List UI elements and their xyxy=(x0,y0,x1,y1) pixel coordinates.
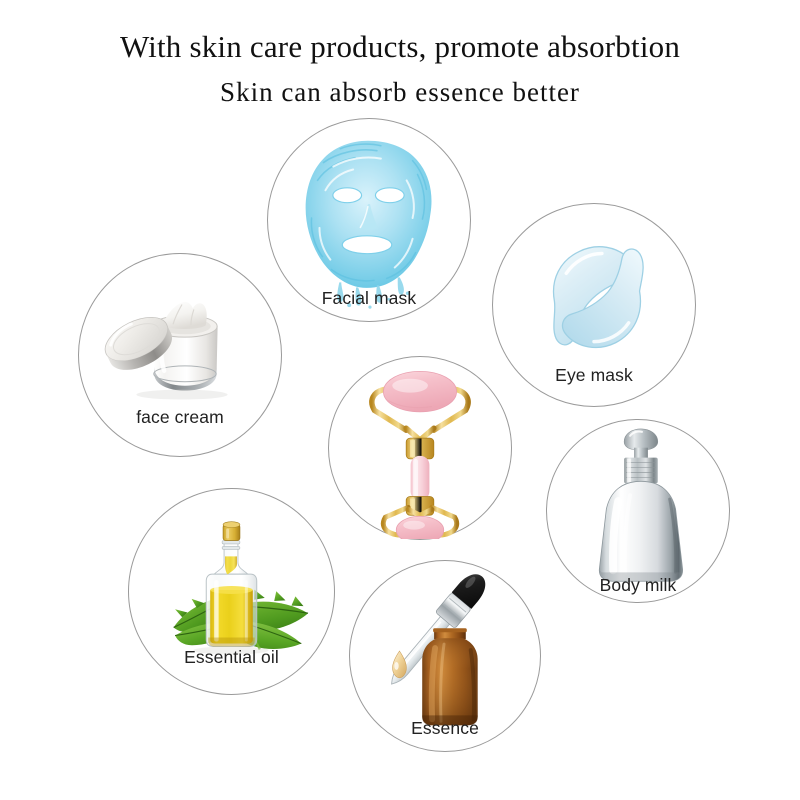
jade-roller-icon xyxy=(329,357,511,539)
product-circle-essence[interactable]: Essence xyxy=(349,560,541,752)
product-circle-essential-oil[interactable]: Essential oil xyxy=(128,488,335,695)
product-label-face-cream: face cream xyxy=(79,407,281,428)
product-label-eye-mask: Eye mask xyxy=(493,365,695,386)
skincare-infographic: With skin care products, promote absorbt… xyxy=(0,0,800,800)
product-circle-face-cream[interactable]: face cream xyxy=(78,253,282,457)
product-label-body-milk: Body milk xyxy=(547,575,729,596)
headline-secondary: Skin can absorb essence better xyxy=(0,77,800,108)
product-label-facial-mask: Facial mask xyxy=(268,288,470,309)
headline-primary: With skin care products, promote absorbt… xyxy=(0,29,800,65)
product-circle-eye-mask[interactable]: Eye mask xyxy=(492,203,696,407)
product-label-essence: Essence xyxy=(350,718,540,739)
product-label-essential-oil: Essential oil xyxy=(129,647,334,668)
product-circle-facial-mask[interactable]: Facial mask xyxy=(267,118,471,322)
product-circle-body-milk[interactable]: Body milk xyxy=(546,419,730,603)
product-circle-roller[interactable] xyxy=(328,356,512,540)
